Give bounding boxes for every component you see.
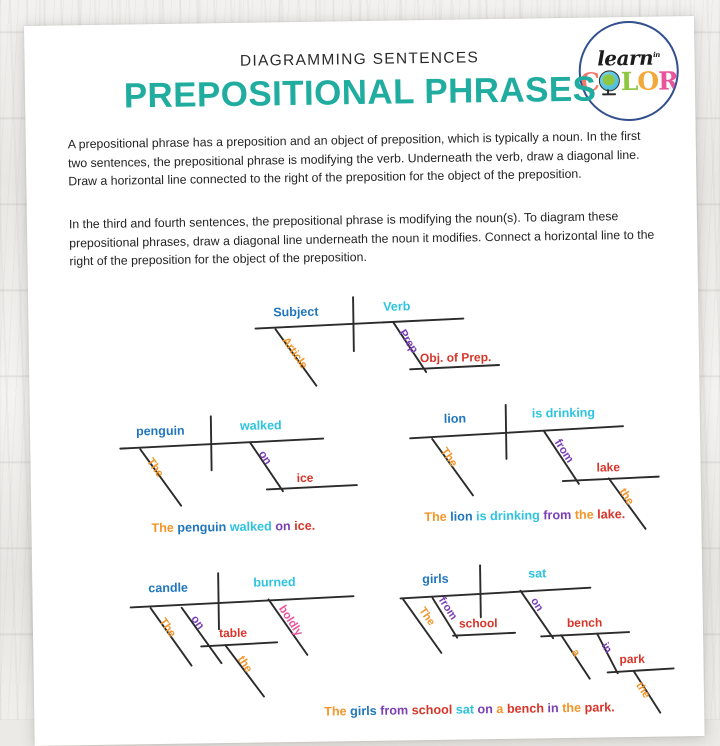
sentence-word: The	[151, 521, 174, 535]
key-article-label: Article	[279, 335, 309, 371]
key-object-label: Obj. of Prep.	[420, 350, 492, 365]
sentence-word: park	[584, 700, 611, 714]
sentence-word: bench	[507, 701, 544, 716]
sentence-word: school	[412, 703, 453, 718]
girls-obj3-label: park	[619, 652, 645, 666]
girls-article-label: The	[416, 605, 437, 628]
girls-prep2-label: on	[528, 596, 546, 614]
sentence-word: is drinking	[476, 508, 540, 523]
girls-subject-label: girls	[422, 572, 449, 586]
candle-verb-label: burned	[253, 575, 296, 590]
lion-diagram: lion is drinking The from lake the	[408, 394, 690, 523]
sentence-word: .	[611, 700, 615, 714]
sentence-word: lion	[450, 509, 473, 523]
lion-verb-label: is drinking	[532, 406, 595, 421]
sentence-word: .	[312, 519, 316, 533]
page-title: PREPOSITIONAL PHRASES	[25, 68, 696, 118]
lion-object-label: lake	[597, 460, 621, 474]
sentence-word: on	[275, 519, 291, 533]
sentence-word: penguin	[177, 520, 226, 535]
instructions-paragraph-1: A prepositional phrase has a preposition…	[68, 127, 659, 192]
penguin-prep-label: on	[256, 449, 274, 467]
key-verb-label: Verb	[383, 299, 411, 313]
candle-article-label: The	[156, 616, 178, 640]
candle-object-label: table	[219, 626, 248, 640]
instructions-paragraph-2: In the third and fourth sentences, the p…	[69, 207, 660, 272]
candle-subject-label: candle	[148, 581, 188, 596]
sentence-word: a	[496, 702, 503, 716]
candle-object-article-label: the	[235, 654, 254, 675]
girls-verb-label: sat	[528, 566, 547, 580]
lion-article-label: The	[438, 446, 460, 470]
sentence-word: the	[575, 508, 594, 522]
sentence-word: .	[622, 507, 626, 521]
penguin-article-label: The	[144, 456, 166, 480]
penguin-subject-label: penguin	[136, 424, 185, 439]
key-diagram: Subject Verb Article Prep Obj. of Prep.	[253, 287, 515, 396]
sentence-word: from	[543, 508, 571, 522]
sentence-word: The	[324, 704, 347, 718]
sentence-word: on	[477, 702, 493, 716]
candle-prep-label: on	[188, 613, 206, 631]
sentence-word: the	[562, 701, 581, 715]
sentence-lion: The lion is drinking from the lake.	[424, 507, 625, 524]
lion-subject-label: lion	[444, 411, 466, 425]
sentence-word: walked	[230, 519, 272, 534]
sentence-word: The	[424, 510, 447, 524]
sentence-word: in	[547, 701, 558, 715]
girls-obj2-label: bench	[567, 615, 603, 630]
worksheet-page: learnin C L O R DIAGRAMMING SENTENCES PR…	[24, 16, 705, 746]
girls-diagram: girls sat The from school on bench a in …	[400, 554, 702, 718]
sentence-word: girls	[350, 704, 377, 718]
penguin-verb-label: walked	[239, 418, 282, 433]
sentence-word: lake	[597, 507, 622, 521]
sentence-word: ice	[294, 519, 312, 533]
sentence-word: sat	[456, 702, 474, 716]
candle-adverb-label: boldly	[276, 603, 305, 638]
key-prep-label: Prep	[396, 328, 420, 356]
sentence-penguin: The penguin walked on ice.	[151, 519, 315, 535]
candle-diagram: candle burned The on table the boldly	[128, 561, 390, 700]
penguin-diagram: penguin walked The on ice	[118, 406, 370, 515]
sentence-word: from	[380, 703, 408, 717]
penguin-object-label: ice	[297, 471, 314, 485]
lion-object-article-label: the	[616, 486, 635, 507]
lion-prep-label: from	[552, 437, 576, 465]
girls-obj1-label: school	[459, 616, 498, 631]
key-subject-label: Subject	[273, 305, 319, 320]
